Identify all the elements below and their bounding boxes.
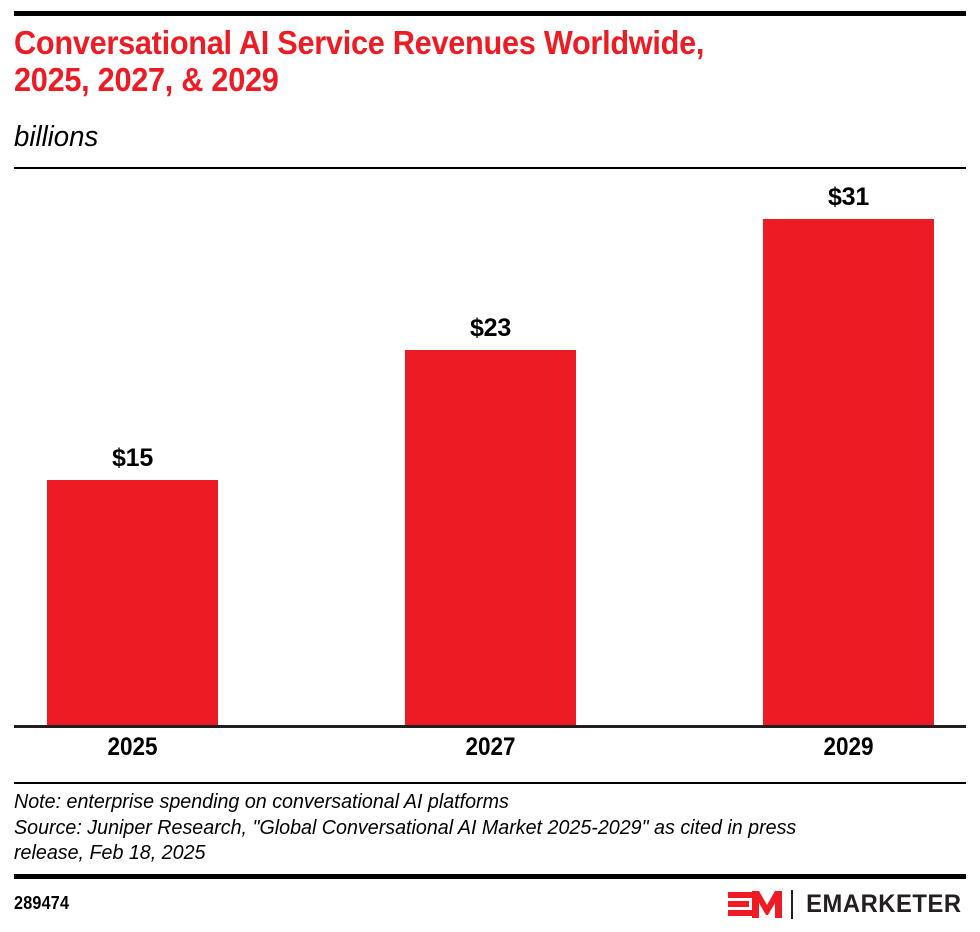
chart-id: 289474 xyxy=(14,892,69,914)
chart-footer: 289474 EMARKETER xyxy=(14,888,966,922)
em-logo-icon xyxy=(728,889,782,919)
bar-group-2029: $31 xyxy=(763,170,934,725)
note-text: Note: enterprise spending on conversatio… xyxy=(14,789,928,815)
chart-page: Conversational AI Service Revenues World… xyxy=(0,0,980,932)
source-text-line1: Source: Juniper Research, "Global Conver… xyxy=(14,815,928,841)
chart-notes: Note: enterprise spending on conversatio… xyxy=(14,789,966,866)
x-tick-label-2027: 2027 xyxy=(414,733,568,761)
x-axis-line xyxy=(14,725,966,728)
bar-value-label-2025: $15 xyxy=(47,446,218,471)
logo-divider xyxy=(791,890,793,919)
bar-2025[interactable] xyxy=(47,480,218,725)
bar-value-label-2027: $23 xyxy=(405,316,576,341)
header-divider xyxy=(14,167,966,169)
x-tick-label-2029: 2029 xyxy=(772,733,926,761)
x-axis-labels: 2025 2027 2029 xyxy=(14,733,966,767)
bar-chart-plot: $15 $23 $31 xyxy=(14,170,966,728)
chart-header: Conversational AI Service Revenues World… xyxy=(14,24,966,98)
chart-subtitle: billions xyxy=(14,120,98,154)
bar-group-2025: $15 xyxy=(47,170,218,725)
brand-wordmark: EMARKETER xyxy=(806,892,962,917)
note-divider xyxy=(14,782,966,784)
bar-value-label-2029: $31 xyxy=(763,185,934,210)
source-text-line2: release, Feb 18, 2025 xyxy=(14,840,928,866)
x-tick-label-2025: 2025 xyxy=(56,733,210,761)
bar-series: $15 $23 $31 xyxy=(14,170,966,725)
emarketer-logo: EMARKETER xyxy=(728,888,966,920)
bar-2029[interactable] xyxy=(763,219,934,725)
page-title: Conversational AI Service Revenues World… xyxy=(14,24,899,98)
bar-group-2027: $23 xyxy=(405,170,576,725)
top-divider xyxy=(14,11,966,16)
bar-2027[interactable] xyxy=(405,350,576,725)
footer-divider xyxy=(14,874,966,879)
